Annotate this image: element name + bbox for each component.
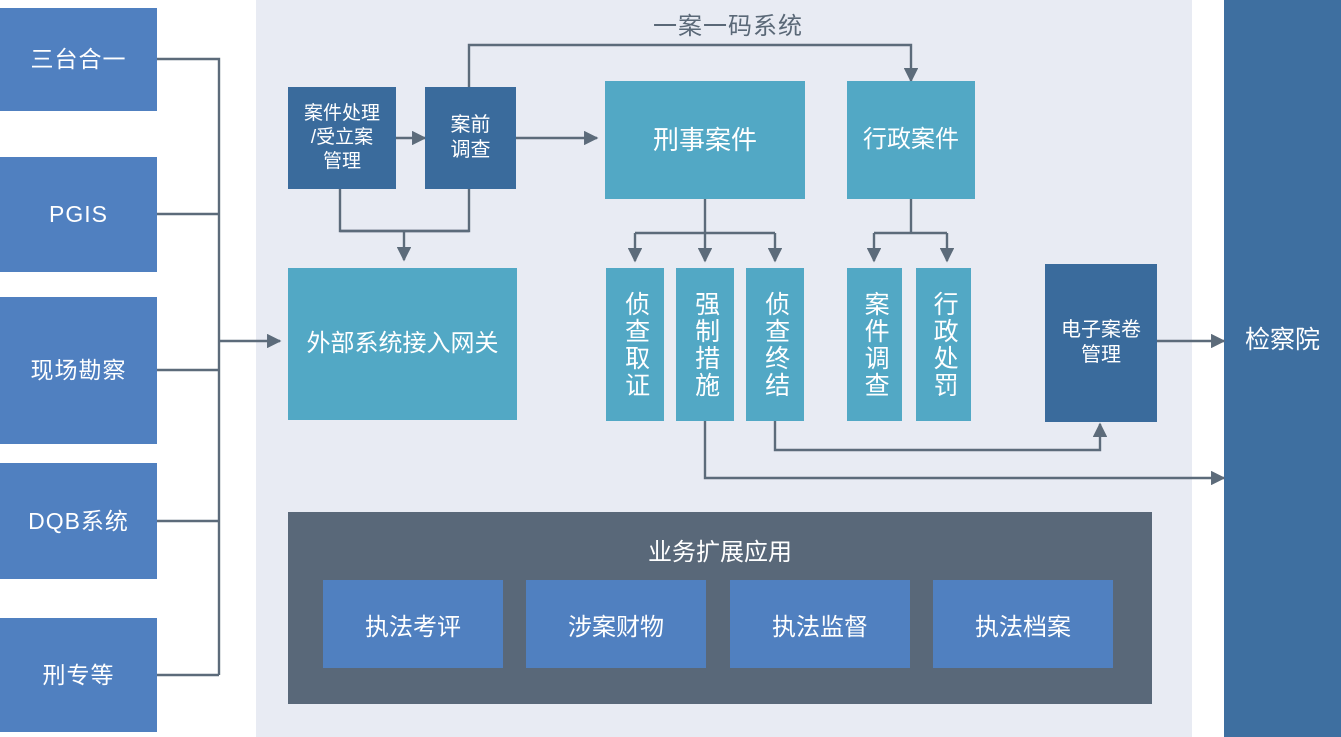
source-box-santaiheyi[interactable]: 三台合一 bbox=[0, 8, 157, 111]
node-evidence-collection[interactable]: 侦查取证 bbox=[606, 268, 664, 421]
node-case-handling[interactable]: 案件处理 /受立案 管理 bbox=[288, 87, 396, 189]
ext-item-sheancaiwu[interactable]: 涉案财物 bbox=[526, 580, 706, 668]
source-box-pgis[interactable]: PGIS bbox=[0, 157, 157, 272]
ext-item-zhifadangan[interactable]: 执法档案 bbox=[933, 580, 1113, 668]
node-case-investigation[interactable]: 案件调查 bbox=[847, 268, 902, 421]
node-coercive-measures[interactable]: 强制措施 bbox=[676, 268, 734, 421]
diagram-canvas: 一案一码系统 三台合一 PGIS 现场勘察 DQB系统 刑专等 案件处理 /受立… bbox=[0, 0, 1341, 737]
node-external-gateway[interactable]: 外部系统接入网关 bbox=[288, 268, 517, 420]
diagram-title: 一案一码系统 bbox=[598, 6, 858, 41]
ext-item-zhifajiandu[interactable]: 执法监督 bbox=[730, 580, 910, 668]
source-box-xianchangkancha[interactable]: 现场勘察 bbox=[0, 297, 157, 444]
business-extension-title: 业务扩展应用 bbox=[288, 532, 1152, 567]
business-extension-panel: 业务扩展应用 执法考评 涉案财物 执法监督 执法档案 bbox=[288, 512, 1152, 704]
source-box-dqb[interactable]: DQB系统 bbox=[0, 463, 157, 579]
node-administrative-penalty[interactable]: 行政处罚 bbox=[916, 268, 971, 421]
node-administrative-case[interactable]: 行政案件 bbox=[847, 81, 975, 199]
node-investigation-end[interactable]: 侦查终结 bbox=[746, 268, 804, 421]
node-criminal-case[interactable]: 刑事案件 bbox=[605, 81, 805, 199]
ext-item-zhifakaoping[interactable]: 执法考评 bbox=[323, 580, 503, 668]
node-e-file-management[interactable]: 电子案卷 管理 bbox=[1045, 264, 1157, 422]
node-pre-investigation[interactable]: 案前 调查 bbox=[425, 87, 516, 189]
node-procuratorate[interactable]: 检察院 bbox=[1224, 310, 1341, 372]
source-box-xingzhuan[interactable]: 刑专等 bbox=[0, 618, 157, 732]
